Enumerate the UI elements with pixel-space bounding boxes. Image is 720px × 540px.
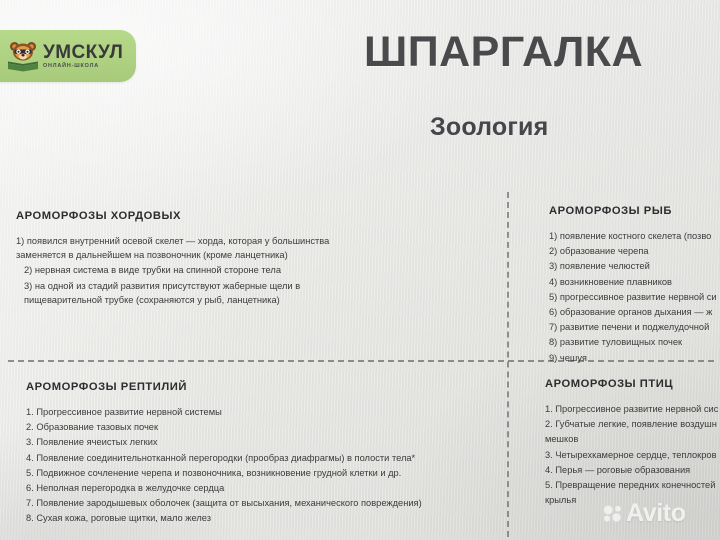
list-item: 7) развитие печени и поджелудочной <box>549 320 720 334</box>
page-subtitle: Зоология <box>430 113 548 142</box>
list-item: 1. Прогрессивное развитие нервной систем… <box>26 405 586 419</box>
avito-watermark: Avito <box>603 501 686 526</box>
list-item: 1) появился внутренний осевой скелет — х… <box>16 234 368 262</box>
list-item: 4) возникновение плавников <box>549 275 720 289</box>
list-item: 4. Появление соединительнотканной перего… <box>26 451 586 465</box>
list-item: 5. Подвижное сочленение черепа и позвоно… <box>26 466 586 480</box>
list-item: 3. Четырехкамерное сердце, теплокров <box>545 448 720 462</box>
list-item: 2) образование черепа <box>549 244 720 258</box>
list-item: 8) развитие туловищных почек <box>549 335 720 349</box>
brand-logo-text: УМСКУЛ ОНЛАЙН-ШКОЛА <box>43 43 123 69</box>
list-item: 3. Появление ячеистых легких <box>26 435 586 449</box>
list-item: 5) прогрессивное развитие нервной си <box>549 290 720 304</box>
list-item: 3) появление челюстей <box>549 259 720 273</box>
section-heading-birds: АРОМОРФОЗЫ ПТИЦ <box>545 378 720 390</box>
list-item: 1) появление костного скелета (позво <box>549 229 720 243</box>
list-item: 2. Образование тазовых почек <box>26 420 586 434</box>
list-birds: 1. Прогрессивное развитие нервной сис 2.… <box>545 402 720 507</box>
section-heading-chordates: АРОМОРФОЗЫ ХОРДОВЫХ <box>16 210 368 222</box>
list-item: 4. Перья — роговые образования <box>545 463 720 477</box>
list-fish: 1) появление костного скелета (позво 2) … <box>549 229 720 365</box>
brand-name: УМСКУЛ <box>43 43 123 62</box>
cheatsheet-poster: УМСКУЛ ОНЛАЙН-ШКОЛА ШПАРГАЛКА Зоология А… <box>0 0 720 540</box>
list-item: 2. Губчатые легкие, появление воздушн <box>545 417 720 431</box>
list-item: 3) на одной из стадий развития присутств… <box>16 279 368 307</box>
list-item: 1. Прогрессивное развитие нервной сис <box>545 402 720 416</box>
list-item: 6) образование органов дыхания — ж <box>549 305 720 319</box>
section-chordates: АРОМОРФОЗЫ ХОРДОВЫХ 1) появился внутренн… <box>16 210 368 308</box>
section-reptiles: АРОМОРФОЗЫ РЕПТИЛИЙ 1. Прогрессивное раз… <box>26 381 586 527</box>
list-item: 9) чешуя <box>549 351 720 365</box>
list-item: 6. Неполная перегородка в желудочке серд… <box>26 481 586 495</box>
section-heading-fish: АРОМОРФОЗЫ РЫБ <box>549 205 720 217</box>
brand-tagline: ОНЛАЙН-ШКОЛА <box>43 64 123 69</box>
section-fish: АРОМОРФОЗЫ РЫБ 1) появление костного ске… <box>549 205 720 366</box>
list-reptiles: 1. Прогрессивное развитие нервной систем… <box>26 405 586 526</box>
list-chordates: 1) появился внутренний осевой скелет — х… <box>16 234 368 307</box>
list-item: мешков <box>545 432 720 446</box>
list-item: 8. Сухая кожа, роговые щитки, мало желез <box>26 511 586 525</box>
list-item: 7. Появление зародышевых оболочек (защит… <box>26 496 586 510</box>
list-item: 5. Превращение передних конечностей <box>545 478 720 492</box>
page-title: ШПАРГАЛКА <box>364 28 643 77</box>
avito-watermark-text: Avito <box>626 501 686 526</box>
section-heading-reptiles: АРОМОРФОЗЫ РЕПТИЛИЙ <box>26 381 586 393</box>
bear-mascot-icon <box>8 40 38 72</box>
section-birds: АРОМОРФОЗЫ ПТИЦ 1. Прогрессивное развити… <box>545 378 720 508</box>
brand-logo: УМСКУЛ ОНЛАЙН-ШКОЛА <box>0 30 136 82</box>
list-item: 2) нервная система в виде трубки на спин… <box>16 263 368 277</box>
avito-dots-icon <box>603 505 624 522</box>
